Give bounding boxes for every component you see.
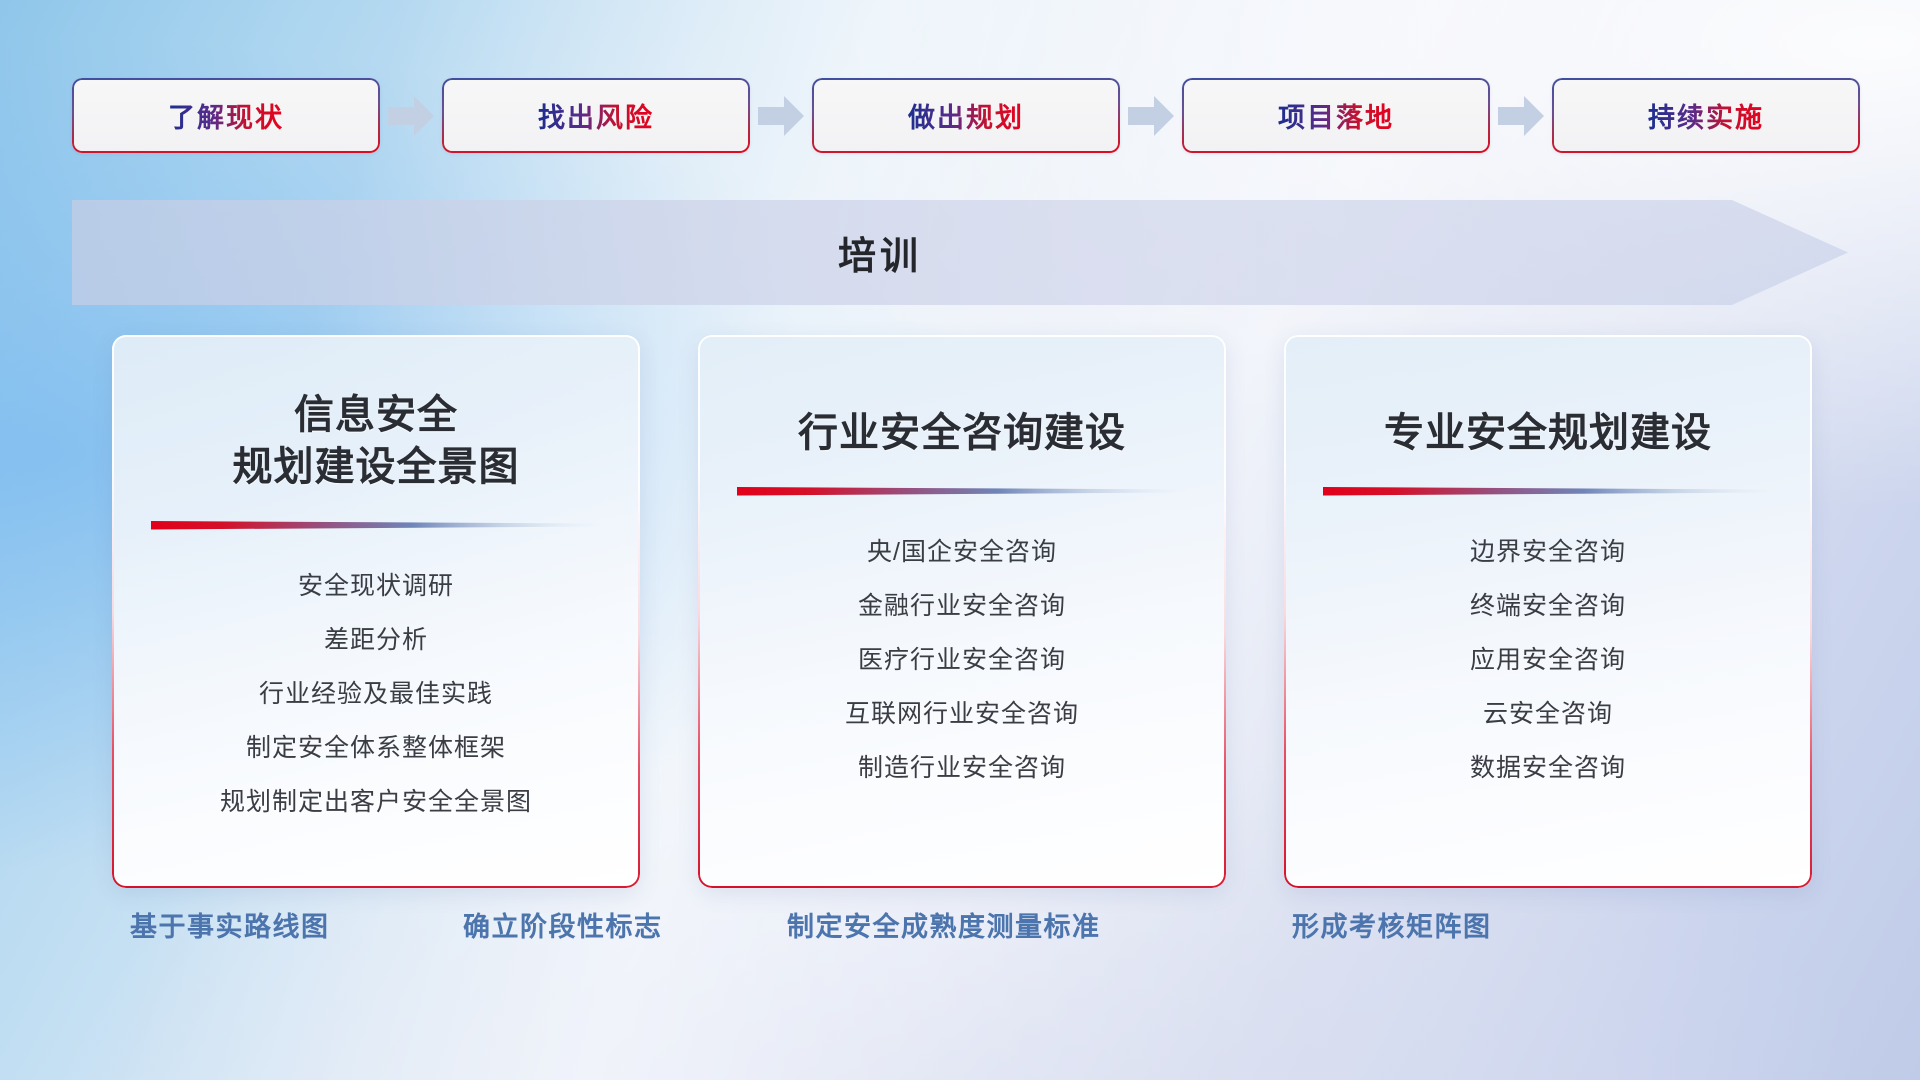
card-item-list: 边界安全咨询终端安全咨询应用安全咨询云安全咨询数据安全咨询 — [1284, 527, 1812, 793]
card-divider — [151, 519, 601, 531]
right-arrow-icon — [758, 96, 804, 136]
list-item: 央/国企安全咨询 — [867, 527, 1057, 577]
list-item: 制造行业安全咨询 — [858, 743, 1066, 793]
step-box-1[interactable]: 了解现状 — [72, 78, 380, 153]
list-item: 行业经验及最佳实践 — [259, 669, 493, 719]
step-separator-arrow — [758, 96, 804, 136]
card-divider — [737, 485, 1187, 497]
step-label: 了解现状 — [168, 96, 284, 135]
list-item: 差距分析 — [324, 615, 428, 665]
card-divider — [1323, 485, 1773, 497]
step-label: 项目落地 — [1278, 96, 1394, 135]
list-item: 规划制定出客户安全全景图 — [220, 777, 532, 827]
step-label: 持续实施 — [1648, 96, 1764, 135]
list-item: 边界安全咨询 — [1470, 527, 1626, 577]
list-item: 云安全咨询 — [1483, 689, 1613, 739]
caption-2: 确立阶段性标志 — [463, 905, 663, 944]
step-label: 找出风险 — [538, 96, 654, 135]
caption-4: 形成考核矩阵图 — [1292, 905, 1492, 944]
list-item: 数据安全咨询 — [1470, 743, 1626, 793]
list-item: 终端安全咨询 — [1470, 581, 1626, 631]
step-box-2[interactable]: 找出风险 — [442, 78, 750, 153]
right-arrow-icon — [1128, 96, 1174, 136]
banner-title: 培训 — [72, 200, 1688, 305]
slide-canvas: 了解现状找出风险做出规划项目落地持续实施 培训 信息安全 规划建设全景图安全现状… — [0, 0, 1920, 1080]
list-item: 安全现状调研 — [298, 561, 454, 611]
list-item: 应用安全咨询 — [1470, 635, 1626, 685]
list-item: 制定安全体系整体框架 — [246, 723, 506, 773]
step-separator-arrow — [388, 96, 434, 136]
list-item: 互联网行业安全咨询 — [845, 689, 1079, 739]
card-title: 行业安全咨询建设 — [798, 407, 1126, 459]
card-row: 信息安全 规划建设全景图安全现状调研差距分析行业经验及最佳实践制定安全体系整体框… — [112, 335, 1812, 888]
caption-3: 制定安全成熟度测量标准 — [787, 905, 1101, 944]
training-banner: 培训 — [72, 200, 1848, 305]
step-separator-arrow — [1498, 96, 1544, 136]
caption-1: 基于事实路线图 — [130, 905, 330, 944]
list-item: 医疗行业安全咨询 — [858, 635, 1066, 685]
caption-row: 基于事实路线图确立阶段性标志制定安全成熟度测量标准形成考核矩阵图 — [0, 905, 1920, 965]
step-box-3[interactable]: 做出规划 — [812, 78, 1120, 153]
service-card-1[interactable]: 信息安全 规划建设全景图安全现状调研差距分析行业经验及最佳实践制定安全体系整体框… — [112, 335, 640, 888]
card-title: 专业安全规划建设 — [1384, 407, 1712, 459]
right-arrow-icon — [1498, 96, 1544, 136]
card-title: 信息安全 规划建设全景图 — [233, 389, 520, 493]
service-card-2[interactable]: 行业安全咨询建设央/国企安全咨询金融行业安全咨询医疗行业安全咨询互联网行业安全咨… — [698, 335, 1226, 888]
step-box-4[interactable]: 项目落地 — [1182, 78, 1490, 153]
card-item-list: 央/国企安全咨询金融行业安全咨询医疗行业安全咨询互联网行业安全咨询制造行业安全咨… — [698, 527, 1226, 793]
step-separator-arrow — [1128, 96, 1174, 136]
process-step-flow: 了解现状找出风险做出规划项目落地持续实施 — [72, 78, 1848, 153]
step-box-5[interactable]: 持续实施 — [1552, 78, 1860, 153]
list-item: 金融行业安全咨询 — [858, 581, 1066, 631]
service-card-3[interactable]: 专业安全规划建设边界安全咨询终端安全咨询应用安全咨询云安全咨询数据安全咨询 — [1284, 335, 1812, 888]
step-label: 做出规划 — [908, 96, 1024, 135]
right-arrow-icon — [388, 96, 434, 136]
card-item-list: 安全现状调研差距分析行业经验及最佳实践制定安全体系整体框架规划制定出客户安全全景… — [112, 561, 640, 827]
